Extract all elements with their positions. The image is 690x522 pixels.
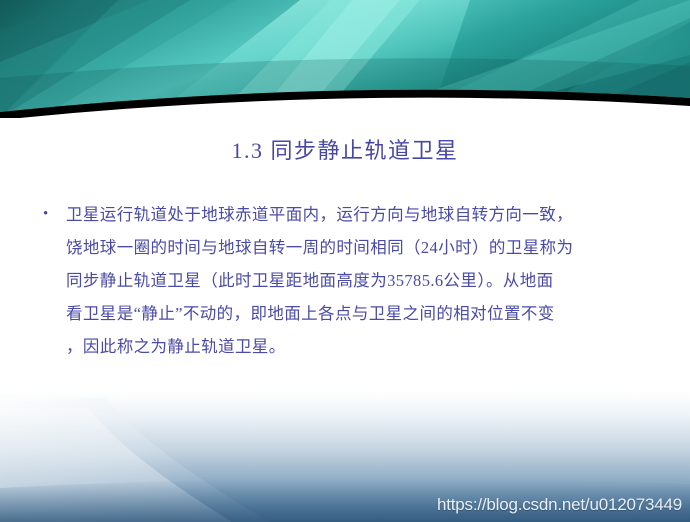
bullet-text-block: 卫星运行轨道处于地球赤道平面内，运行方向与地球自转方向一致， 饶地球一圈的时间与…	[66, 198, 653, 363]
body-text-line-5: ，因此称之为静止轨道卫星。	[66, 330, 653, 363]
body-content: • 卫星运行轨道处于地球赤道平面内，运行方向与地球自转方向一致， 饶地球一圈的时…	[38, 198, 653, 363]
body-text-line-1: 卫星运行轨道处于地球赤道平面内，运行方向与地球自转方向一致，	[66, 198, 653, 231]
body-text-line-4: 看卫星是“静止”不动的，即地面上各点与卫星之间的相对位置不变	[66, 297, 653, 330]
body-text-line-3: 同步静止轨道卫星（此时卫星距地面高度为35785.6公里）。从地面	[66, 264, 653, 297]
header-banner-graphic	[0, 0, 690, 118]
watermark-url: https://blog.csdn.net/u012073449	[437, 495, 682, 515]
header-banner-svg	[0, 0, 690, 118]
bullet-list-item: • 卫星运行轨道处于地球赤道平面内，运行方向与地球自转方向一致， 饶地球一圈的时…	[38, 198, 653, 363]
page-title: 1.3 同步静止轨道卫星	[0, 133, 690, 165]
bullet-point-icon: •	[38, 198, 66, 231]
presentation-slide: 1.3 同步静止轨道卫星 • 卫星运行轨道处于地球赤道平面内，运行方向与地球自转…	[0, 0, 690, 522]
body-text-line-2: 饶地球一圈的时间与地球自转一周的时间相同（24小时）的卫星称为	[66, 231, 653, 264]
